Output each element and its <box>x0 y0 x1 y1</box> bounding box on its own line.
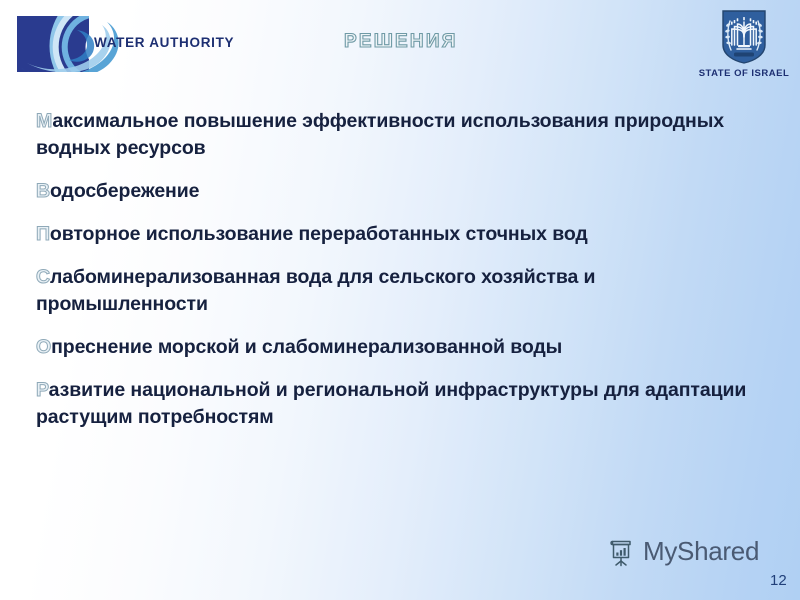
bullet-text: лабоминерализованная вода для сельского … <box>36 266 595 315</box>
bullet-initial-cap: С <box>36 266 50 288</box>
flipchart-bar-chart-icon <box>606 537 636 567</box>
state-of-israel-caption: STATE OF ISRAEL <box>690 68 798 79</box>
myshared-watermark-text: MyShared <box>643 536 759 567</box>
bullet-list: Максимальное повышение эффективности исп… <box>36 108 748 431</box>
bullet-initial-cap: В <box>36 180 50 202</box>
bullet-initial-cap: М <box>36 110 52 132</box>
bullet-initial-cap: П <box>36 223 50 245</box>
bullet-text: одосбережение <box>50 180 199 202</box>
bullet-text: овторное использование переработанных ст… <box>50 223 588 245</box>
page-number: 12 <box>770 572 787 589</box>
myshared-watermark: MyShared <box>606 536 759 567</box>
slide-title: РЕШЕНИЯ <box>344 31 458 53</box>
bullet-item: Опреснение морской и слабоминерализованн… <box>36 334 748 361</box>
bullet-item: Максимальное повышение эффективности исп… <box>36 108 748 162</box>
bullet-text: аксимальное повышение эффективности испо… <box>36 110 724 159</box>
slide-header: WATER AUTHORITY РЕШЕНИЯ <box>0 0 800 92</box>
water-authority-logo: WATER AUTHORITY <box>17 16 227 72</box>
israel-emblem-icon <box>721 9 767 65</box>
slide: WATER AUTHORITY РЕШЕНИЯ <box>0 0 800 600</box>
bullet-text: азвитие национальной и региональной инфр… <box>36 379 746 428</box>
bullet-item: Развитие национальной и региональной инф… <box>36 377 748 431</box>
water-authority-logo-text: WATER AUTHORITY <box>94 35 234 50</box>
state-of-israel-block: STATE OF ISRAEL <box>690 9 798 79</box>
bullet-item: Слабоминерализованная вода для сельского… <box>36 264 748 318</box>
bullet-item: Повторное использование переработанных с… <box>36 221 748 248</box>
bullet-text: преснение морской и слабоминерализованно… <box>51 336 562 358</box>
bullet-initial-cap: О <box>36 336 51 358</box>
bullet-item: Водосбережение <box>36 178 748 205</box>
bullet-initial-cap: Р <box>36 379 49 401</box>
